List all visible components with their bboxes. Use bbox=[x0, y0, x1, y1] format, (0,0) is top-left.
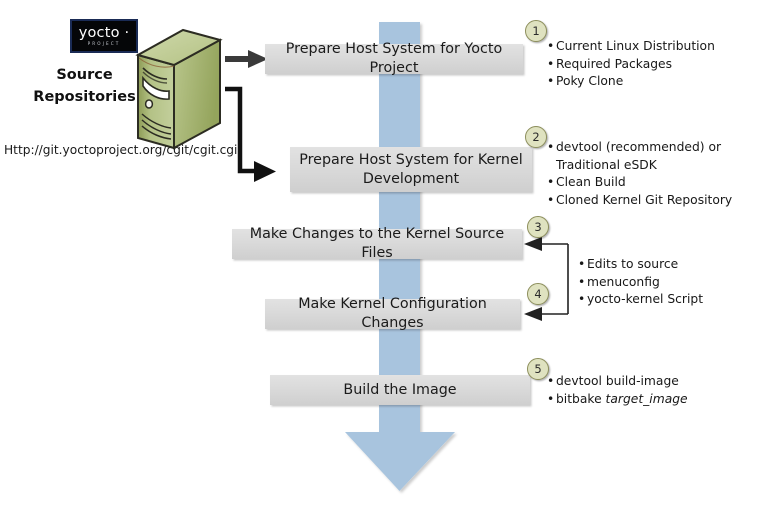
list-item-label: Cloned Kernel Git Repository bbox=[556, 192, 732, 210]
step-1-bullet-list: • Current Linux Distribution • Required … bbox=[547, 38, 762, 91]
step-number-2: 2 bbox=[525, 126, 547, 148]
source-label-line-1: Source bbox=[22, 64, 147, 86]
bullet-icon: • bbox=[547, 139, 556, 157]
list-item: • Poky Clone bbox=[547, 73, 762, 91]
logo-wordmark: yocto · bbox=[79, 26, 130, 40]
step-number-1: 1 bbox=[525, 20, 547, 42]
list-item: • Required Packages bbox=[547, 56, 762, 74]
list-item-label: Required Packages bbox=[556, 56, 672, 74]
list-item: • Current Linux Distribution bbox=[547, 38, 762, 56]
bullet-icon: • bbox=[578, 256, 587, 274]
step-number-5: 5 bbox=[527, 358, 549, 380]
yocto-project-logo: yocto · PROJECT bbox=[70, 19, 138, 53]
steps-3-4-bullet-list: • Edits to source • menuconfig • yocto-k… bbox=[578, 256, 758, 309]
process-box-make-kernel-config-changes[interactable]: Make Kernel Configuration Changes bbox=[265, 299, 520, 329]
list-item: • menuconfig bbox=[578, 274, 758, 292]
list-item: • devtool build-image bbox=[547, 373, 747, 391]
bullet-icon: • bbox=[547, 56, 556, 74]
list-item-label: Current Linux Distribution bbox=[556, 38, 715, 56]
diagram-canvas: yocto · PROJECT Source Repositories Http… bbox=[0, 0, 769, 517]
bullet-icon: • bbox=[547, 192, 556, 210]
list-item-label: Edits to source bbox=[587, 256, 678, 274]
step-2-bullet-list: • devtool (recommended) or Traditional e… bbox=[547, 139, 765, 209]
bullet-icon: • bbox=[547, 373, 556, 391]
bullet-icon: • bbox=[547, 38, 556, 56]
list-item-label: menuconfig bbox=[587, 274, 660, 292]
step-5-bullet-list: • devtool build-image • bitbake target_i… bbox=[547, 373, 747, 408]
process-box-build-the-image[interactable]: Build the Image bbox=[270, 375, 530, 405]
list-item-label: Poky Clone bbox=[556, 73, 623, 91]
list-item: • bitbake target_image bbox=[547, 391, 747, 409]
list-item-label: yocto-kernel Script bbox=[587, 291, 703, 309]
bullet-icon: • bbox=[547, 174, 556, 192]
bullet-icon: • bbox=[578, 274, 587, 292]
process-box-prepare-host-kernel[interactable]: Prepare Host System for Kernel Developme… bbox=[290, 147, 532, 192]
source-repositories-label: Source Repositories bbox=[22, 64, 147, 108]
list-item: • devtool (recommended) or Traditional e… bbox=[547, 139, 765, 174]
step-number-4: 4 bbox=[527, 283, 549, 305]
server-icon bbox=[133, 26, 225, 150]
list-item: • yocto-kernel Script bbox=[578, 291, 758, 309]
list-item: • Edits to source bbox=[578, 256, 758, 274]
list-item: • Cloned Kernel Git Repository bbox=[547, 192, 765, 210]
list-item-label: devtool (recommended) or Traditional eSD… bbox=[556, 139, 765, 174]
bullet-icon: • bbox=[547, 73, 556, 91]
list-item-label: devtool build-image bbox=[556, 373, 679, 391]
step-number-3: 3 bbox=[527, 216, 549, 238]
source-label-line-2: Repositories bbox=[22, 86, 147, 108]
list-item: • Clean Build bbox=[547, 174, 765, 192]
list-item-label: bitbake target_image bbox=[556, 391, 688, 409]
process-box-make-kernel-source-changes[interactable]: Make Changes to the Kernel Source Files bbox=[232, 229, 522, 259]
logo-subtext: PROJECT bbox=[88, 41, 121, 46]
bullet-icon: • bbox=[547, 391, 556, 409]
list-item-label: Clean Build bbox=[556, 174, 626, 192]
process-box-prepare-host-yocto[interactable]: Prepare Host System for Yocto Project bbox=[265, 44, 523, 74]
bullet-icon: • bbox=[578, 291, 587, 309]
